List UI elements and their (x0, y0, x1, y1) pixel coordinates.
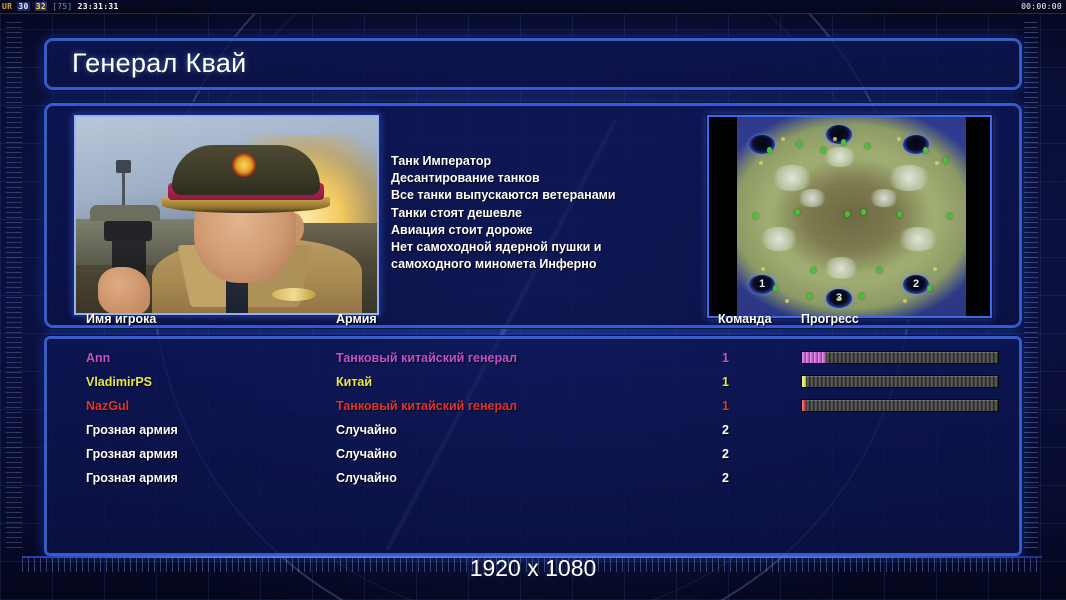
minimap-cloud (759, 227, 799, 251)
minimap-resource (759, 161, 763, 165)
progress-bar-fill (802, 352, 826, 363)
minimap-cloud (823, 257, 859, 279)
minimap-resource (933, 267, 937, 271)
minimap-cloud (869, 189, 899, 207)
cell-army: Танковый китайский генерал (336, 346, 517, 370)
minimap-tree (797, 141, 802, 147)
cell-team: 1 (722, 346, 729, 370)
cell-progress (801, 399, 999, 412)
minimap-cloud (887, 165, 931, 191)
minimap-tree (753, 213, 758, 219)
minimap-tree (859, 293, 864, 299)
table-row[interactable]: AnnТанковый китайский генерал1 (46, 346, 1020, 370)
cell-team: 1 (722, 394, 729, 418)
cell-team: 2 (722, 466, 729, 490)
cell-army: Случайно (336, 466, 397, 490)
cell-army: Танковый китайский генерал (336, 394, 517, 418)
minimap-tree (897, 211, 902, 217)
minimap-cloud (771, 165, 813, 191)
minimap-resource (761, 267, 765, 271)
cell-army: Китай (336, 370, 372, 394)
minimap-tree (927, 285, 932, 291)
progress-bar-fill (802, 400, 806, 411)
resolution-overlay: 1920 x 1080 (0, 555, 1066, 582)
description-line-1: Танк Император (391, 153, 721, 170)
minimap-cloud (897, 227, 939, 251)
status-bar-left: UR 30 32 [75] 23:31:31 (2, 0, 119, 14)
progress-bar-fill (802, 376, 806, 387)
portrait-cap-badge (232, 153, 256, 177)
cell-player-name: Грозная армия (86, 442, 178, 466)
cell-team: 2 (722, 442, 729, 466)
minimap-resource (935, 161, 939, 165)
general-description: Танк Император Десантирование танков Все… (391, 153, 721, 273)
spawn-point-2: 2 (903, 275, 929, 294)
header-army: Армия (336, 312, 377, 326)
minimap-resource (833, 137, 837, 141)
ruler-left (6, 22, 22, 552)
cell-player-name: VladimirPS (86, 370, 152, 394)
cell-army: Случайно (336, 418, 397, 442)
table-row[interactable]: VladimirPSКитай1 (46, 370, 1020, 394)
table-row[interactable]: Грозная армияСлучайно2 (46, 418, 1020, 442)
spawn-point-2 (826, 125, 852, 144)
minimap-resource (903, 299, 907, 303)
minimap-tree (811, 267, 816, 273)
description-line-4: Танки стоят дешевле (391, 205, 721, 222)
portrait-hand (98, 267, 150, 315)
header-player-name: Имя игрока (86, 312, 156, 326)
minimap-resource (897, 137, 901, 141)
table-row[interactable]: Грозная армияСлучайно2 (46, 442, 1020, 466)
cell-player-name: NazGul (86, 394, 129, 418)
players-panel: Имя игрока Армия Команда Прогресс AnnТан… (44, 336, 1022, 556)
minimap-tree (795, 209, 800, 215)
progress-bar (801, 351, 999, 364)
portrait-wing-insignia (272, 288, 316, 301)
status-num1: 30 (17, 2, 29, 11)
status-tag: UR (2, 2, 12, 11)
cell-player-name: Грозная армия (86, 466, 178, 490)
cell-team: 2 (722, 418, 729, 442)
header-progress: Прогресс (801, 312, 859, 326)
table-row[interactable]: Грозная армияСлучайно2 (46, 466, 1020, 490)
minimap-tree (865, 143, 870, 149)
cell-progress (801, 351, 999, 364)
description-line-3: Все танки выпускаются ветеранами (391, 187, 721, 204)
cell-team: 1 (722, 370, 729, 394)
minimap-tree (845, 211, 850, 217)
game-lobby-screen: UR 30 32 [75] 23:31:31 00:00:00 Генерал … (0, 0, 1066, 600)
minimap-resource (785, 299, 789, 303)
status-timer: 00:00:00 (1021, 0, 1062, 14)
table-row[interactable]: NazGulТанковый китайский генерал1 (46, 394, 1020, 418)
minimap-tree (841, 139, 846, 145)
minimap-cloud (823, 147, 857, 167)
minimap-tree (923, 147, 928, 153)
general-portrait (74, 115, 379, 315)
table-header-row: Имя игрока Армия Команда Прогресс (46, 312, 1020, 336)
minimap-tree (947, 213, 952, 219)
minimap-tree (943, 157, 948, 163)
page-title: Генерал Квай (72, 48, 247, 79)
cell-player-name: Ann (86, 346, 110, 370)
progress-bar (801, 375, 999, 388)
header-team: Команда (718, 312, 772, 326)
minimap-tree (807, 293, 812, 299)
minimap-tree (767, 147, 772, 153)
general-info-panel: Танк Император Десантирование танков Все… (44, 103, 1022, 328)
progress-bar (801, 399, 999, 412)
status-clock: 23:31:31 (78, 2, 119, 11)
title-panel: Генерал Квай (44, 38, 1022, 90)
minimap-tree (877, 267, 882, 273)
cell-player-name: Грозная армия (86, 418, 178, 442)
description-line-5: Авиация стоит дороже (391, 222, 721, 239)
cell-army: Случайно (336, 442, 397, 466)
minimap-resource (837, 297, 841, 301)
description-line-6: Нет самоходной ядерной пушки и (391, 239, 721, 256)
description-line-2: Десантирование танков (391, 170, 721, 187)
minimap-cloud (797, 189, 827, 207)
cell-progress (801, 375, 999, 388)
minimap-tree (861, 209, 866, 215)
status-bar: UR 30 32 [75] 23:31:31 00:00:00 (0, 0, 1066, 14)
players-list: AnnТанковый китайский генерал1VladimirPS… (46, 346, 1020, 490)
ruler-right (1024, 22, 1038, 552)
minimap-tree (821, 147, 826, 153)
status-num2: 32 (35, 2, 47, 11)
status-bracket: [75] (52, 2, 72, 11)
spawn-point-1: 1 (749, 275, 775, 294)
minimap-image: 132 (737, 117, 966, 316)
minimap-resource (781, 137, 785, 141)
minimap-tree (773, 285, 778, 291)
map-preview[interactable]: 132 (707, 115, 992, 318)
description-line-7: самоходного миномета Инферно (391, 256, 721, 273)
